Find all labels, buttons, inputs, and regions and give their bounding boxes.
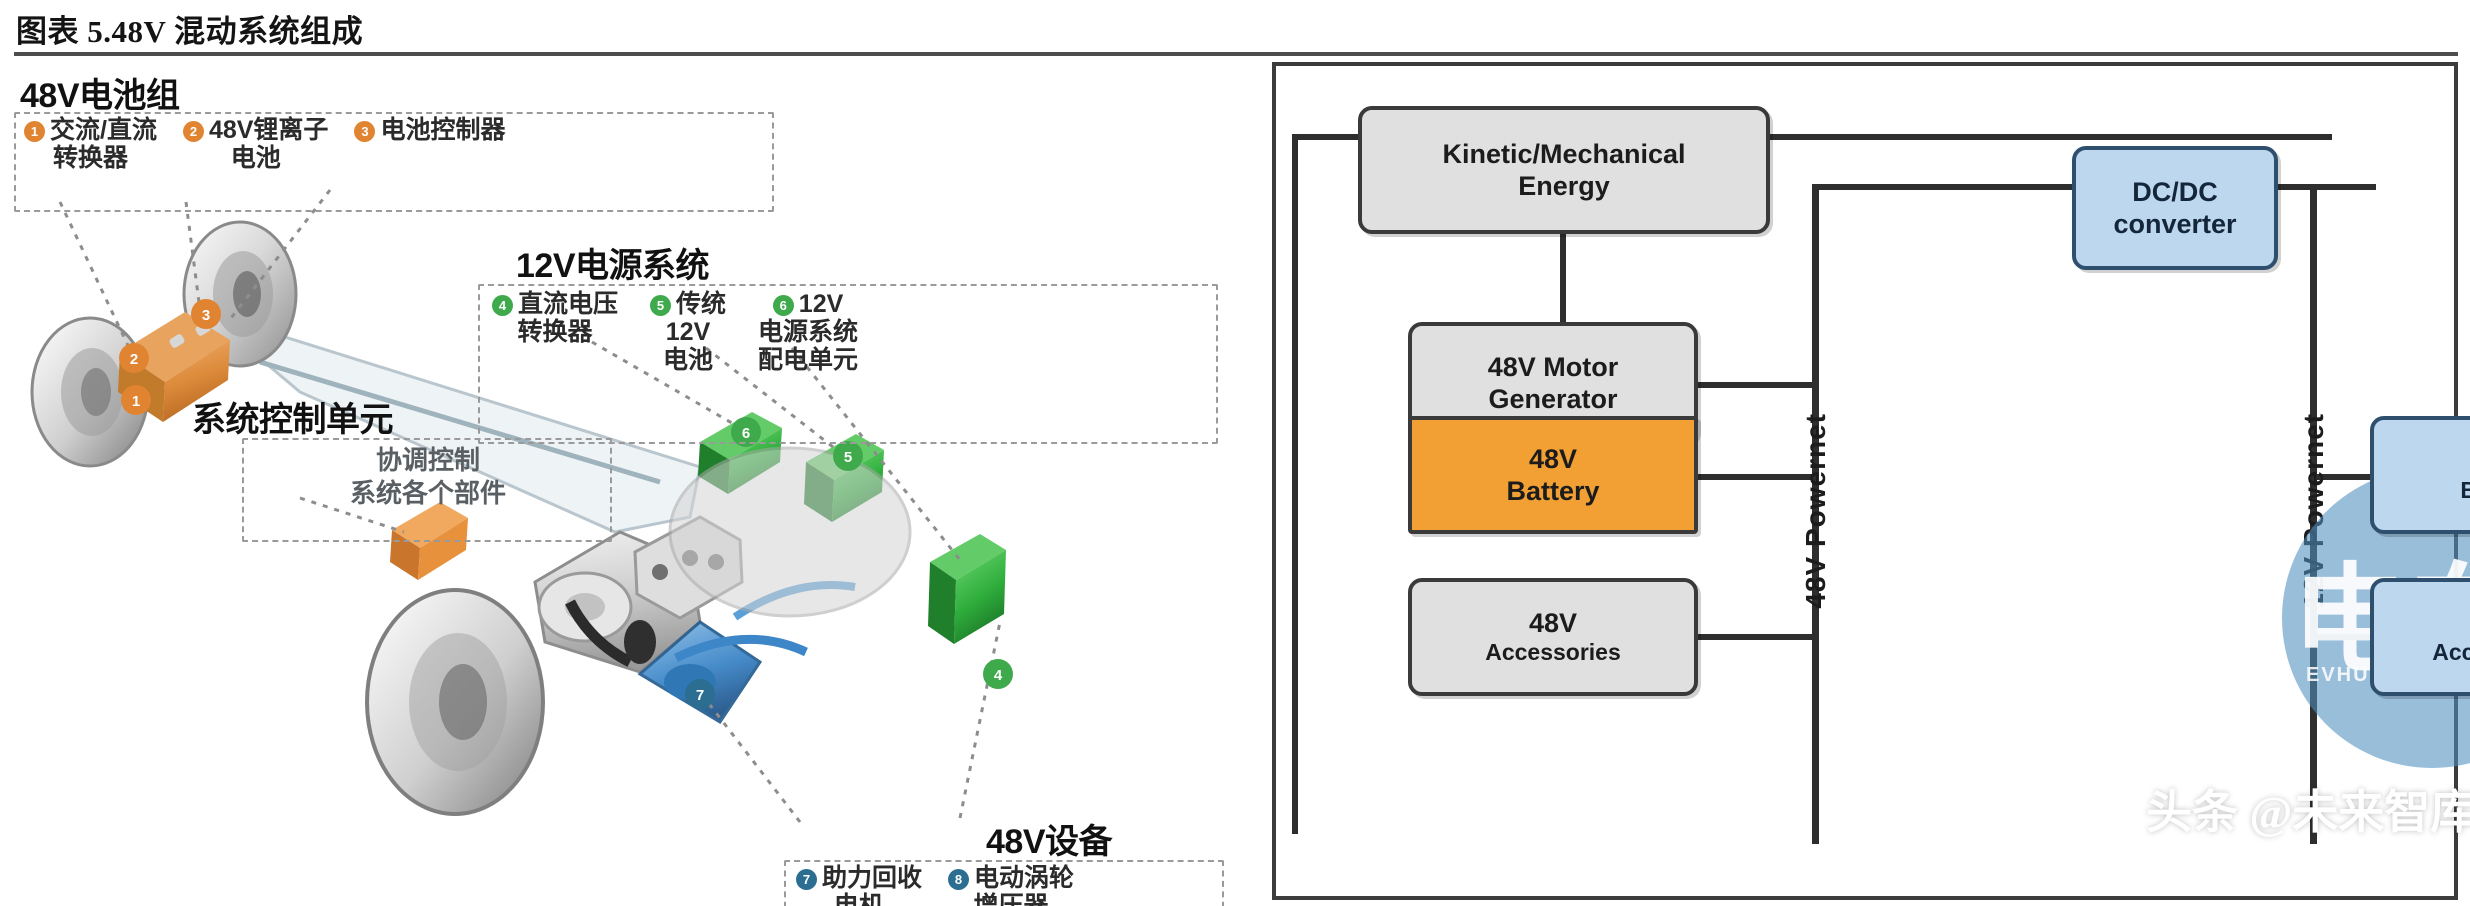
list-item-label-line2: 电源系统 (758, 318, 858, 346)
group-items-48v-devices: 7 助力回收 电机 8 电动涡轮 增压器 (796, 864, 1074, 906)
svg-text:5: 5 (844, 449, 852, 466)
node-label-line2: Accessories (1485, 639, 1621, 667)
node-kinetic-mechanical-energy[interactable]: Kinetic/Mechanical Energy (1358, 106, 1770, 234)
node-label-line2: converter (2113, 208, 2236, 240)
bullet-number-icon: 5 (650, 295, 671, 316)
list-item: 3 电池控制器 (354, 116, 505, 172)
node-label-line2: Battery (1506, 475, 1599, 507)
node-label-line1: DC/DC (2113, 176, 2236, 208)
node-label-line2: Generator (1488, 383, 1619, 415)
list-item-label-line2: 12V (666, 318, 710, 346)
left-illustration-panel: 2 3 1 6 5 4 7 48V电池组 1 交流/直流 转换器 2 (0, 62, 1255, 904)
bullet-number-icon: 6 (773, 295, 794, 316)
bullet-number-icon: 7 (796, 869, 817, 890)
bus-48v-powernet-label: 48V Powernet (1782, 366, 1850, 656)
list-item-label: 电动涡轮 (974, 864, 1074, 892)
list-item: 4 直流电压 转换器 (492, 290, 618, 374)
node-label-line1: 12V (2432, 607, 2470, 639)
svg-text:7: 7 (696, 687, 704, 704)
node-label-line2: Battery (2460, 477, 2470, 505)
wire-outer-loop-left (1292, 134, 1298, 834)
node-label-line1: 48V Motor (1488, 351, 1619, 383)
list-item-label-line2: 电池 (231, 144, 281, 172)
bullet-number-icon: 2 (183, 121, 204, 142)
svg-text:2: 2 (130, 351, 138, 368)
node-dcdc-converter[interactable]: DC/DC converter (2072, 146, 2278, 270)
node-label-line1: 48V (1485, 607, 1621, 639)
list-item: 1 交流/直流 转换器 (24, 116, 157, 172)
list-item: 7 助力回收 电机 (796, 864, 922, 906)
list-item: 2 48V锂离子 电池 (183, 116, 328, 172)
node-label-line1: 12V (2460, 445, 2470, 477)
watermark-corner-text: 头条 @未来智库 (2146, 776, 2470, 842)
group-heading-12v-power-system: 12V电源系统 (516, 238, 709, 287)
right-block-diagram-panel: 48V Powernet 12V Powernet 电车汇 EVHUI.COM … (1272, 62, 2458, 900)
bullet-number-icon: 1 (24, 121, 45, 142)
list-item-label: 交流/直流 (50, 116, 157, 144)
list-item-label: 直流电压 (518, 290, 618, 318)
wire-dcdc-to-12v-bus (2276, 184, 2376, 190)
list-item: 5 传统 12V 电池 (650, 290, 726, 374)
list-item: 6 12V 电源系统 配电单元 (758, 290, 858, 374)
list-item-label: 助力回收 (822, 864, 922, 892)
svg-text:3: 3 (202, 307, 210, 324)
list-item-label: 12V (799, 290, 843, 318)
list-item-label-line2: 转换器 (518, 318, 593, 346)
list-item-label: 48V锂离子 (209, 116, 328, 144)
bullet-number-icon: 8 (948, 869, 969, 890)
node-label-line1: Kinetic/Mechanical (1442, 138, 1685, 170)
node-label-line2: Energy (1442, 170, 1685, 202)
group-heading-48v-devices: 48V设备 (986, 814, 1112, 863)
page-title: 图表 5.48V 混动系统组成 (16, 6, 363, 51)
list-item-label-line2: 增压器 (974, 892, 1049, 906)
list-item-label-line2: 转换器 (53, 144, 128, 172)
bullet-number-icon: 4 (492, 295, 513, 316)
node-12v-battery[interactable]: 12V Battery (2370, 416, 2470, 534)
node-label-line2: Accessories (2432, 639, 2470, 667)
svg-text:4: 4 (994, 667, 1003, 684)
bullet-number-icon: 3 (354, 121, 375, 142)
group-heading-48v-battery-pack: 48V电池组 (20, 68, 180, 117)
node-12v-accessories[interactable]: 12V Accessories (2370, 578, 2470, 696)
figure-page: 图表 5.48V 混动系统组成 (0, 0, 2470, 906)
group-items-48v-battery-pack: 1 交流/直流 转换器 2 48V锂离子 电池 3 电池控制器 (24, 116, 505, 172)
node-label-line1: 48V (1506, 443, 1599, 475)
title-divider (14, 52, 2458, 56)
list-item-label-line3: 电池 (663, 346, 713, 374)
node-48v-accessories[interactable]: 48V Accessories (1408, 578, 1698, 696)
system-control-unit-note: 协调控制 系统各个部件 (258, 444, 598, 509)
list-item-label: 电池控制器 (380, 116, 505, 144)
wire-48v-bus-to-dcdc (1812, 184, 2074, 190)
node-48v-battery[interactable]: 48V Battery (1408, 416, 1698, 534)
list-item-label-line3: 配电单元 (758, 346, 858, 374)
group-heading-system-control-unit: 系统控制单元 (192, 392, 393, 441)
list-item: 8 电动涡轮 增压器 (948, 864, 1074, 906)
group-items-12v-power-system: 4 直流电压 转换器 5 传统 12V 电池 6 12V 电源系统 配电单 (492, 290, 858, 374)
svg-text:1: 1 (132, 393, 140, 410)
figure-header: 图表 5.48V 混动系统组成 (0, 0, 2470, 66)
list-item-label: 传统 (676, 290, 726, 318)
list-item-label-line2: 电机 (834, 892, 884, 906)
